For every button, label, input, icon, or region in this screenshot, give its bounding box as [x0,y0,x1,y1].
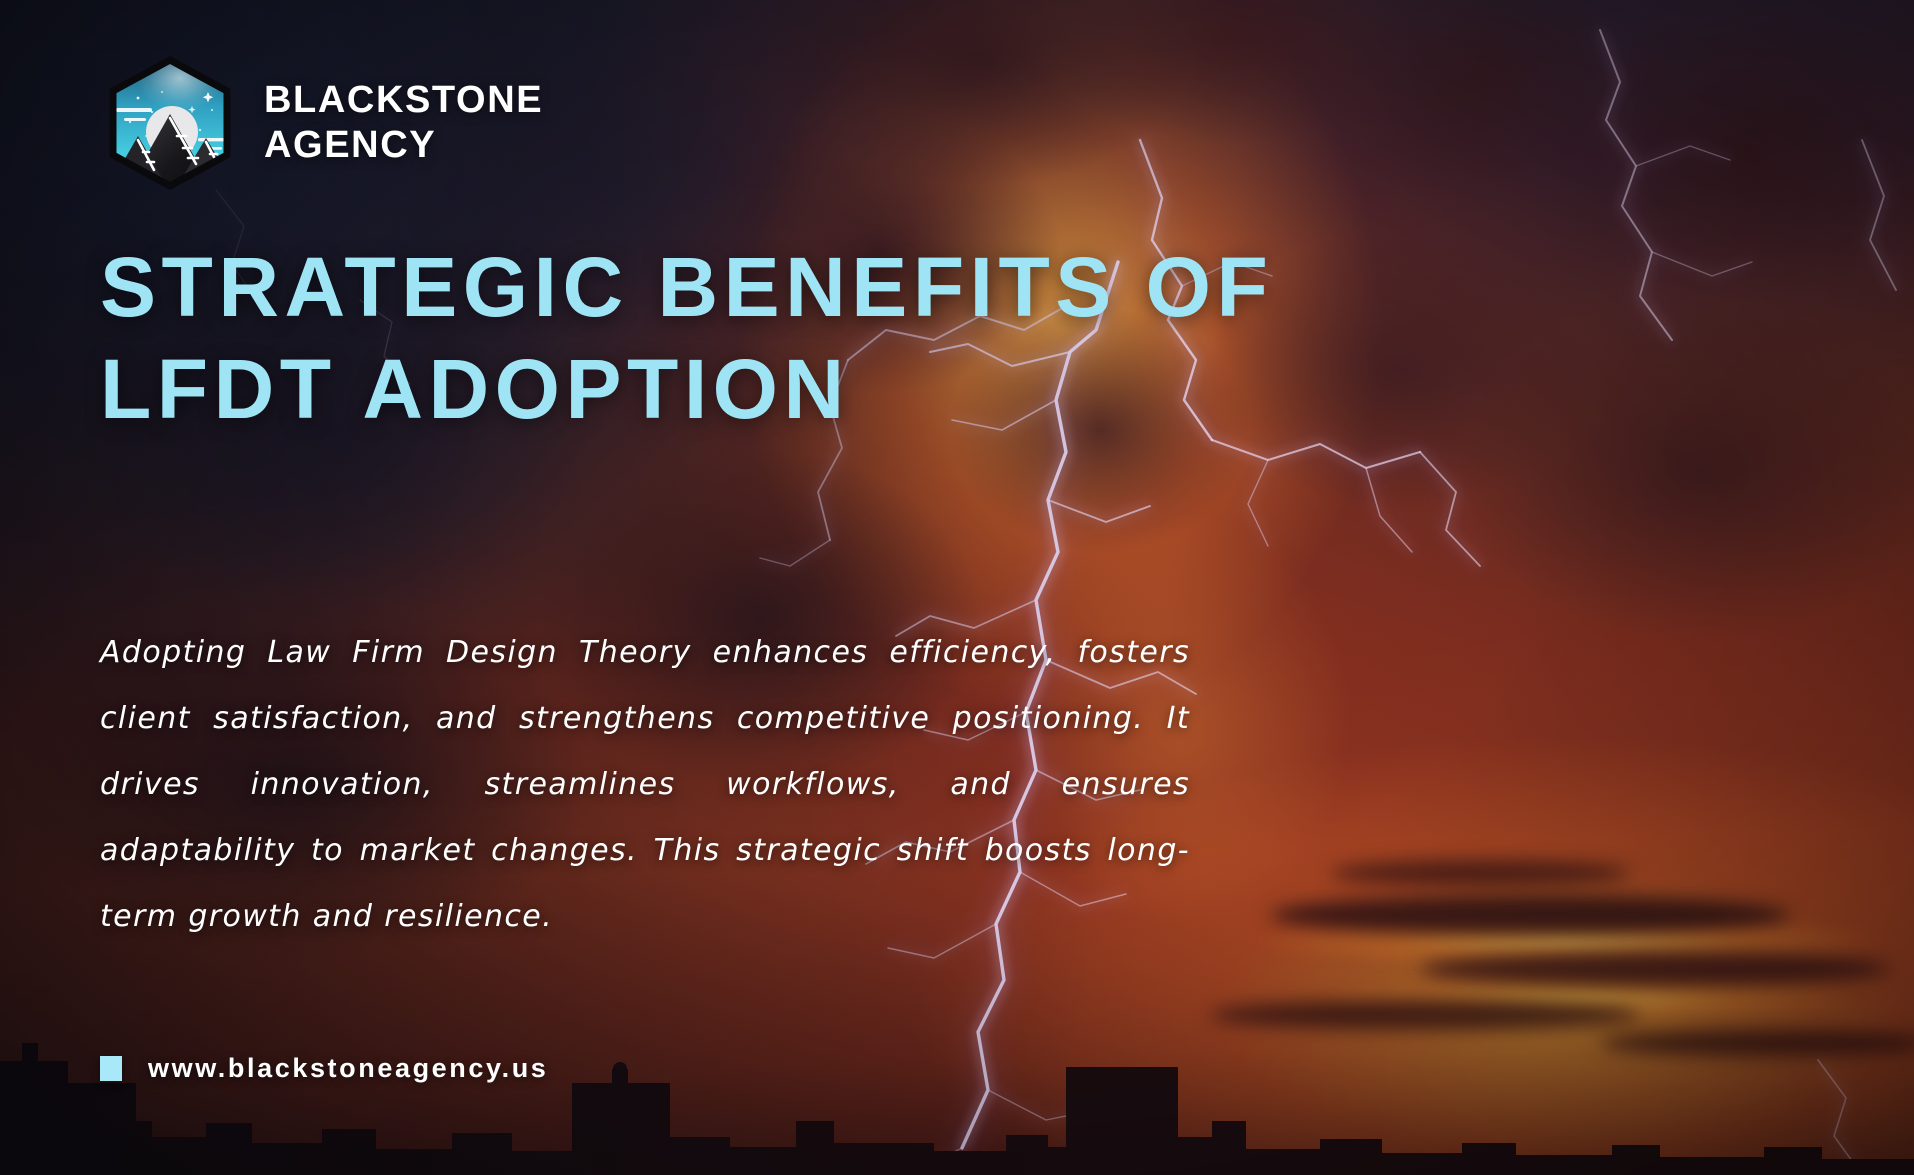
square-bullet-icon [100,1056,122,1081]
brand-name-line1: BLACKSTONE [264,79,543,121]
poster-canvas: BLACKSTONE AGENCY STRATEGIC BENEFITS OF … [0,0,1914,1175]
brand-name-line2: AGENCY [264,123,543,168]
website-url[interactable]: www.blackstoneagency.us [148,1053,548,1084]
brand-lockup[interactable]: BLACKSTONE AGENCY [100,52,543,194]
hexagon-mountain-moon-logo-icon [100,52,240,194]
body-paragraph: Adopting Law Firm Design Theory enhances… [100,620,1190,950]
page-title: STRATEGIC BENEFITS OF LFDT ADOPTION [100,236,1220,441]
poster-content: BLACKSTONE AGENCY STRATEGIC BENEFITS OF … [0,0,1914,1175]
page-title-line1: STRATEGIC BENEFITS OF [100,236,1220,338]
page-title-line2: LFDT ADOPTION [100,338,1220,440]
brand-name: BLACKSTONE AGENCY [264,78,543,168]
footer-website[interactable]: www.blackstoneagency.us [100,1053,548,1084]
